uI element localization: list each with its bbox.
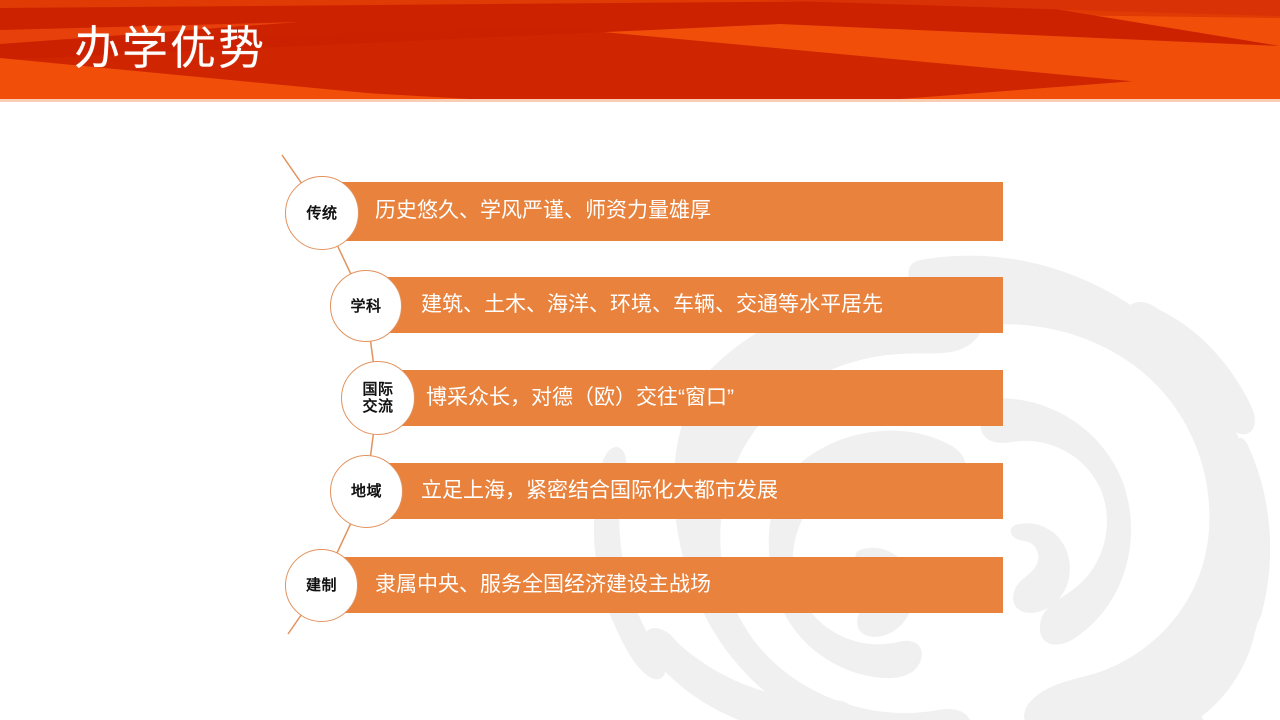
advantage-circle-badge[interactable]: 国际 交流	[341, 361, 415, 435]
slide-canvas: 办学优势 传统 历史悠久、学风严谨、师资力量雄厚	[0, 0, 1280, 720]
advantage-description: 历史悠久、学风严谨、师资力量雄厚	[375, 200, 711, 221]
advantage-circle-label: 地域	[351, 483, 382, 500]
advantage-circle-badge[interactable]: 学科	[330, 270, 402, 342]
header-underline-rule	[0, 99, 1280, 102]
advantage-circle-label: 传统	[306, 205, 337, 222]
advantage-circle-badge[interactable]: 地域	[330, 455, 403, 528]
advantage-circle-label: 建制	[306, 577, 337, 594]
advantage-description: 立足上海，紧密结合国际化大都市发展	[421, 480, 778, 501]
page-title: 办学优势	[74, 16, 266, 82]
advantage-circle-label: 国际 交流	[362, 381, 393, 415]
advantage-circle-badge[interactable]: 传统	[285, 176, 359, 250]
advantage-description: 隶属中央、服务全国经济建设主战场	[375, 574, 711, 595]
advantage-circle-label: 学科	[350, 298, 381, 315]
advantage-description: 建筑、土木、海洋、环境、车辆、交通等水平居先	[421, 294, 883, 315]
advantage-description: 博采众长，对德（欧）交往“窗口”	[426, 387, 734, 408]
advantage-circle-badge[interactable]: 建制	[285, 549, 358, 622]
